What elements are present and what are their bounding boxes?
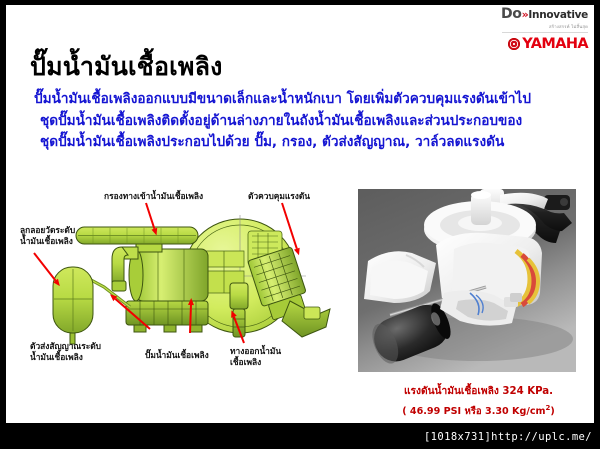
fuel-pressure-note: แรงดันน้ำมันเชื้อเพลิง 324 KPa. ( 46.99 … — [366, 383, 591, 420]
body-line-1: ปั๊มน้ำมันเชื้อเพลิงออกแบบมีขนาดเล็กและน… — [34, 89, 554, 111]
fuel-pressure-line-2: ( 46.99 PSI หรือ 3.30 Kg/cm2) — [366, 400, 591, 420]
page-title: ปั๊มน้ำมันเชื้อเพลิง — [30, 47, 223, 87]
fuel-pump-photo-image — [358, 189, 576, 372]
fuel-pressure-conv-open: ( 46.99 PSI หรือ 3.30 Kg/cm — [402, 406, 545, 417]
fuel-pressure-line-1: แรงดันน้ำมันเชื้อเพลิง 324 KPa. — [366, 383, 591, 400]
label-fuel-pump: ปั๊มน้ำมันเชื้อเพลิง — [145, 350, 209, 361]
yamaha-tuning-forks-icon — [508, 38, 520, 50]
slide-page: Do»Innovative สร้างสรรค์ ไม่สิ้นสุด YAMA… — [6, 5, 594, 423]
footer-source-link[interactable]: [1018x731]http://uplc.me/ — [424, 431, 592, 443]
do-innovative-logo: Do»Innovative — [480, 8, 588, 22]
brand-block: Do»Innovative สร้างสรรค์ ไม่สิ้นสุด YAMA… — [480, 8, 588, 52]
label-fuel-level-float-line2: น้ำมันเชื้อเพลิง — [20, 236, 73, 246]
label-fuel-outlet-line1: ทางออกน้ำมัน — [230, 346, 281, 356]
yamaha-wordmark: YAMAHA — [522, 36, 588, 52]
label-fuel-level-float-line1: ลูกลอยวัดระดับ — [20, 225, 75, 235]
label-pressure-regulator: ตัวควบคุมแรงดัน — [248, 191, 310, 202]
brand-divider — [502, 32, 588, 33]
label-fuel-inlet-filter: กรองทางเข้าน้ำมันเชื้อเพลิง — [104, 191, 203, 202]
do-logo-innovative-text: Innovative — [528, 9, 588, 21]
yamaha-logo: YAMAHA — [480, 36, 588, 52]
footer-bar: [1018x731]http://uplc.me/ — [0, 423, 600, 449]
fuel-pump-photo — [358, 189, 576, 372]
label-fuel-level-sender-line2: น้ำมันเชื้อเพลิง — [30, 352, 83, 362]
do-logo-text: Do — [501, 6, 522, 22]
label-fuel-outlet-line2: เชื้อเพลิง — [230, 357, 261, 367]
label-fuel-level-sender-line1: ตัวส่งสัญญาณระดับ — [30, 341, 101, 351]
body-paragraph: ปั๊มน้ำมันเชื้อเพลิงออกแบบมีขนาดเล็กและน… — [34, 89, 554, 154]
do-logo-tagline: สร้างสรรค์ ไม่สิ้นสุด — [480, 23, 588, 29]
slide-root: Do»Innovative สร้างสรรค์ ไม่สิ้นสุด YAMA… — [0, 0, 600, 449]
body-line-3: ชุดปั๊มน้ำมันเชื้อเพลิงประกอบไปด้วย ปั๊ม… — [34, 132, 554, 154]
label-fuel-level-sender: ตัวส่งสัญญาณระดับ น้ำมันเชื้อเพลิง — [30, 341, 114, 363]
label-fuel-outlet: ทางออกน้ำมัน เชื้อเพลิง — [230, 346, 296, 368]
label-fuel-level-float: ลูกลอยวัดระดับ น้ำมันเชื้อเพลิง — [20, 225, 92, 247]
body-line-2: ชุดปั๊มน้ำมันเชื้อเพลิงติดตั้งอยู่ด้านล่… — [34, 111, 554, 133]
fuel-pressure-conv-close: ) — [550, 406, 554, 417]
fuel-pump-cutaway-diagram: กรองทางเข้าน้ำมันเชื้อเพลิง ตัวควบคุมแรง… — [18, 191, 348, 381]
